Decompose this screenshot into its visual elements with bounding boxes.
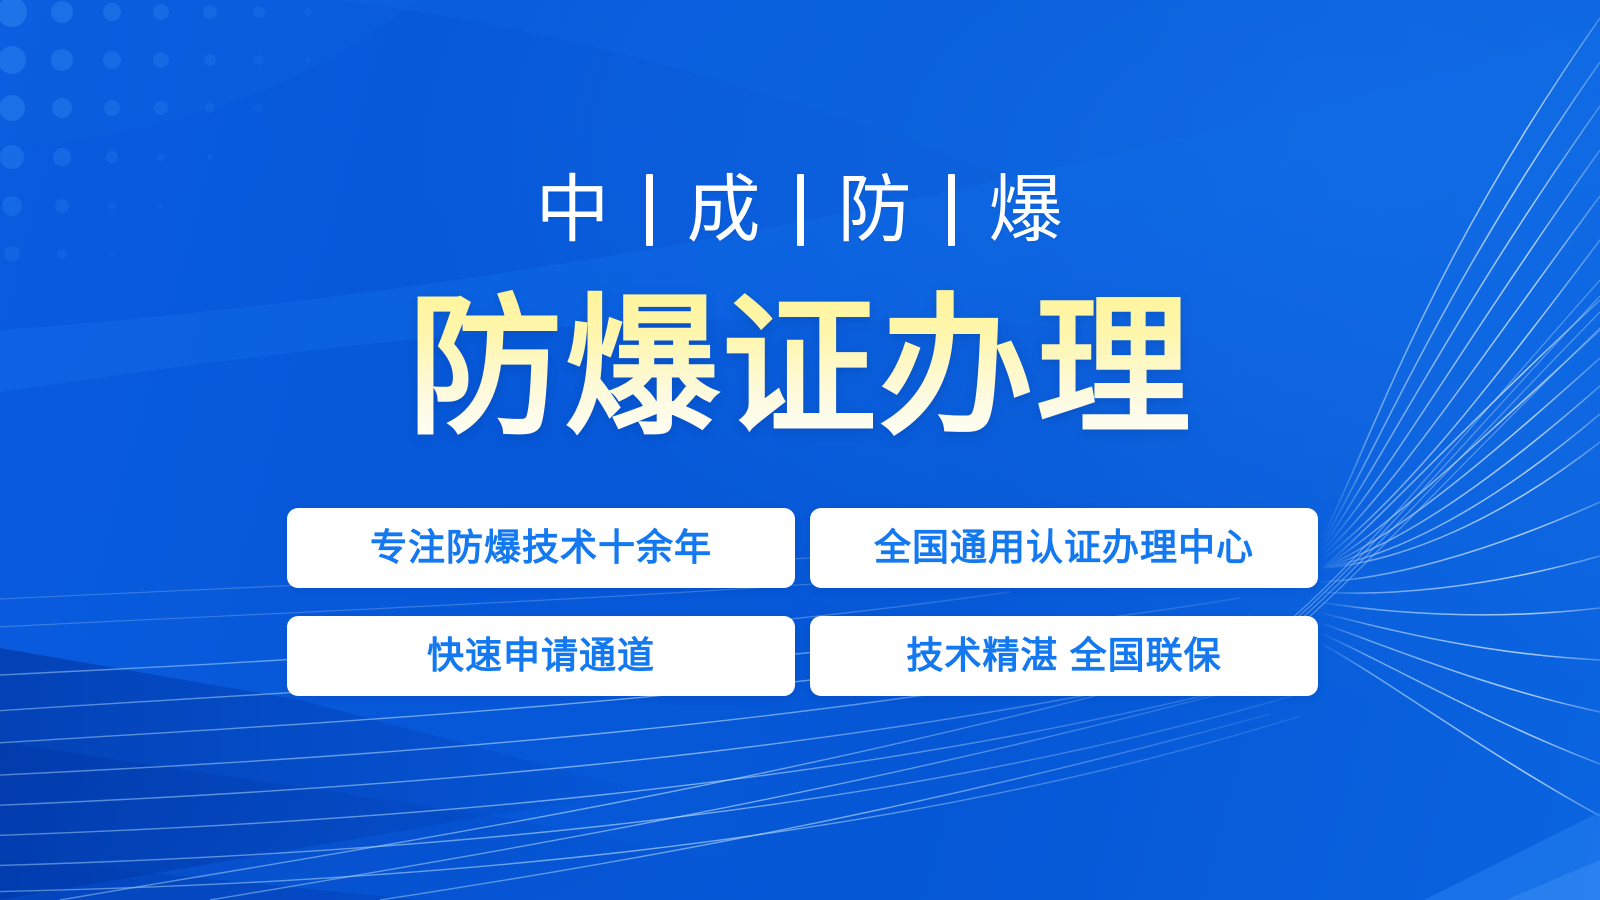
feature-pill-label: 快速申请通道	[427, 634, 655, 678]
banner-headline: 防爆证办理	[0, 288, 1600, 448]
feature-pill-4[interactable]: 技术精湛 全国联保	[810, 616, 1318, 696]
feature-pill-2[interactable]: 全国通用认证办理中心	[810, 508, 1318, 588]
feature-pill-label: 技术精湛 全国联保	[906, 634, 1221, 678]
feature-pill-label: 专注防爆技术十余年	[370, 526, 712, 570]
feature-pill-3[interactable]: 快速申请通道	[287, 616, 795, 696]
subtitle-char-4: 爆	[989, 165, 1065, 255]
feature-pill-label: 全国通用认证办理中心	[874, 526, 1254, 570]
feature-pill-grid: 专注防爆技术十余年 全国通用认证办理中心 快速申请通道 技术精湛 全国联保	[287, 508, 1318, 696]
feature-pill-1[interactable]: 专注防爆技术十余年	[287, 508, 795, 588]
banner-content: 中 成 防 爆 防爆证办理 专注防爆技术十余年 全国通用认证办理中心 快速申请通…	[0, 0, 1600, 900]
banner-subtitle: 中 成 防 爆	[0, 165, 1600, 255]
subtitle-char-3: 防	[838, 165, 914, 255]
subtitle-separator-icon	[797, 174, 804, 246]
subtitle-char-2: 成	[687, 165, 763, 255]
subtitle-separator-icon	[948, 174, 955, 246]
promo-banner: 中 成 防 爆 防爆证办理 专注防爆技术十余年 全国通用认证办理中心 快速申请通…	[0, 0, 1600, 900]
subtitle-separator-icon	[646, 174, 653, 246]
subtitle-char-1: 中	[536, 165, 612, 255]
